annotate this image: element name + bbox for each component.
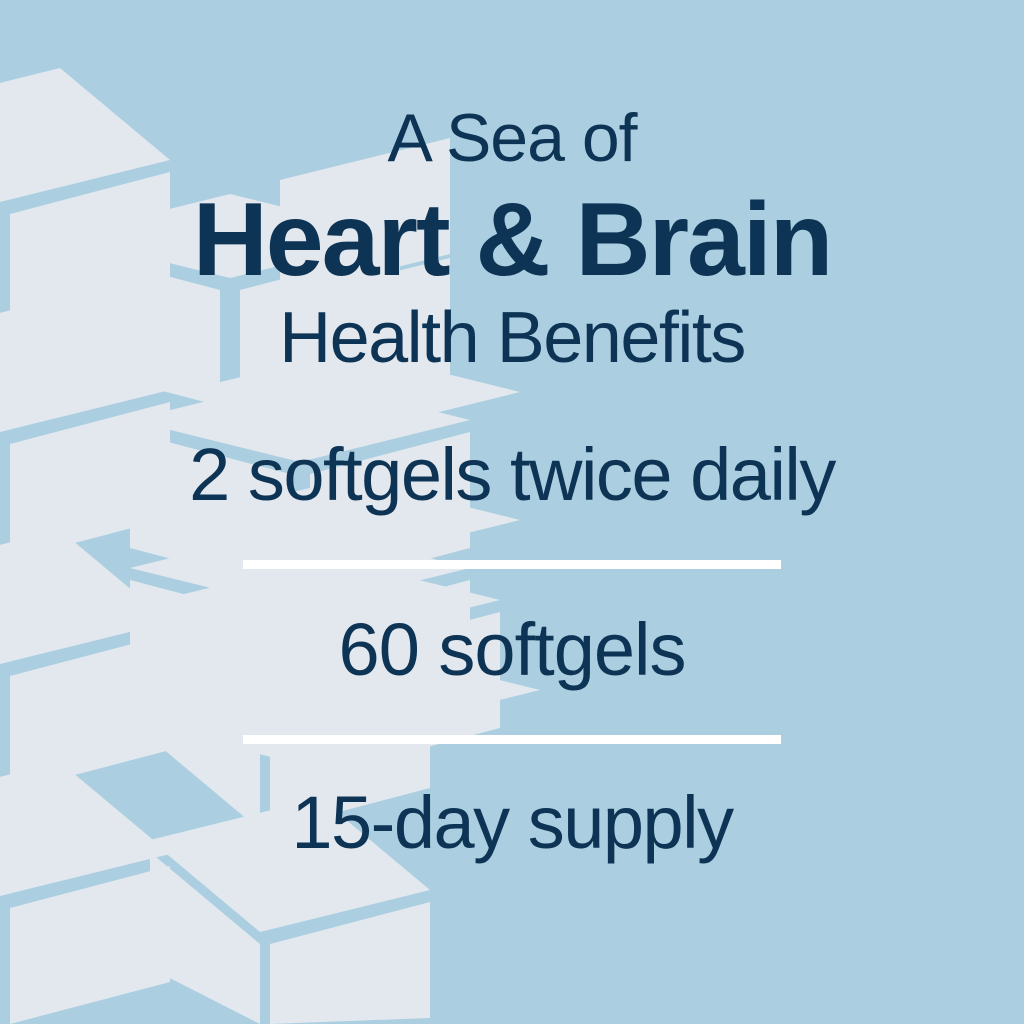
eyebrow-text: A Sea of: [0, 104, 1024, 176]
page-title: Heart & Brain: [0, 188, 1024, 294]
subhead-text: Health Benefits: [0, 302, 1024, 378]
dosage-text: 2 softgels twice daily: [0, 438, 1024, 516]
softgel-count-text: 60 softgels: [0, 613, 1024, 691]
divider-bottom: [243, 735, 781, 744]
panel-content: A Sea of Heart & Brain Health Benefits 2…: [0, 0, 1024, 1024]
product-info-panel: A Sea of Heart & Brain Health Benefits 2…: [0, 0, 1024, 1024]
supply-duration-text: 15-day supply: [0, 786, 1024, 864]
divider-top: [243, 560, 781, 569]
